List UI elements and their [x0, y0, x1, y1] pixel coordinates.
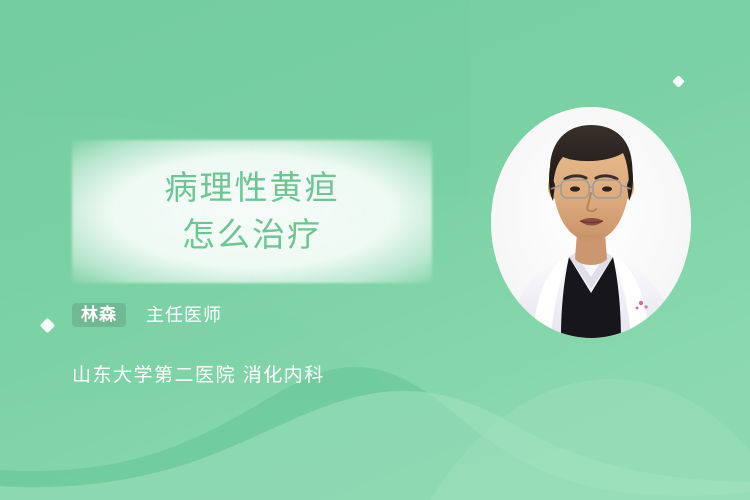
eye-right	[602, 186, 612, 191]
diamond-dot-icon-top-right	[672, 75, 685, 88]
doctor-name-badge: 林森	[72, 303, 126, 327]
doctor-professional-title: 主任医师	[146, 306, 222, 324]
doctor-affiliation: 山东大学第二医院 消化内科	[72, 360, 325, 387]
doctor-identity: 林森 主任医师	[72, 303, 222, 327]
title-card: 病理性黄疸 怎么治疗	[72, 140, 432, 283]
video-thumbnail: 病理性黄疸 怎么治疗 林森 主任医师 山东大学第二医院 消化内科	[0, 0, 750, 500]
title-line-2: 怎么治疗	[182, 212, 322, 259]
wave-bottom-light	[0, 391, 750, 500]
doctor-portrait	[491, 107, 691, 338]
eye-left	[570, 186, 580, 191]
wave-right-crest	[430, 379, 750, 500]
diamond-dot-icon-bottom-left	[40, 318, 56, 334]
title-line-1: 病理性黄疸	[165, 165, 340, 212]
